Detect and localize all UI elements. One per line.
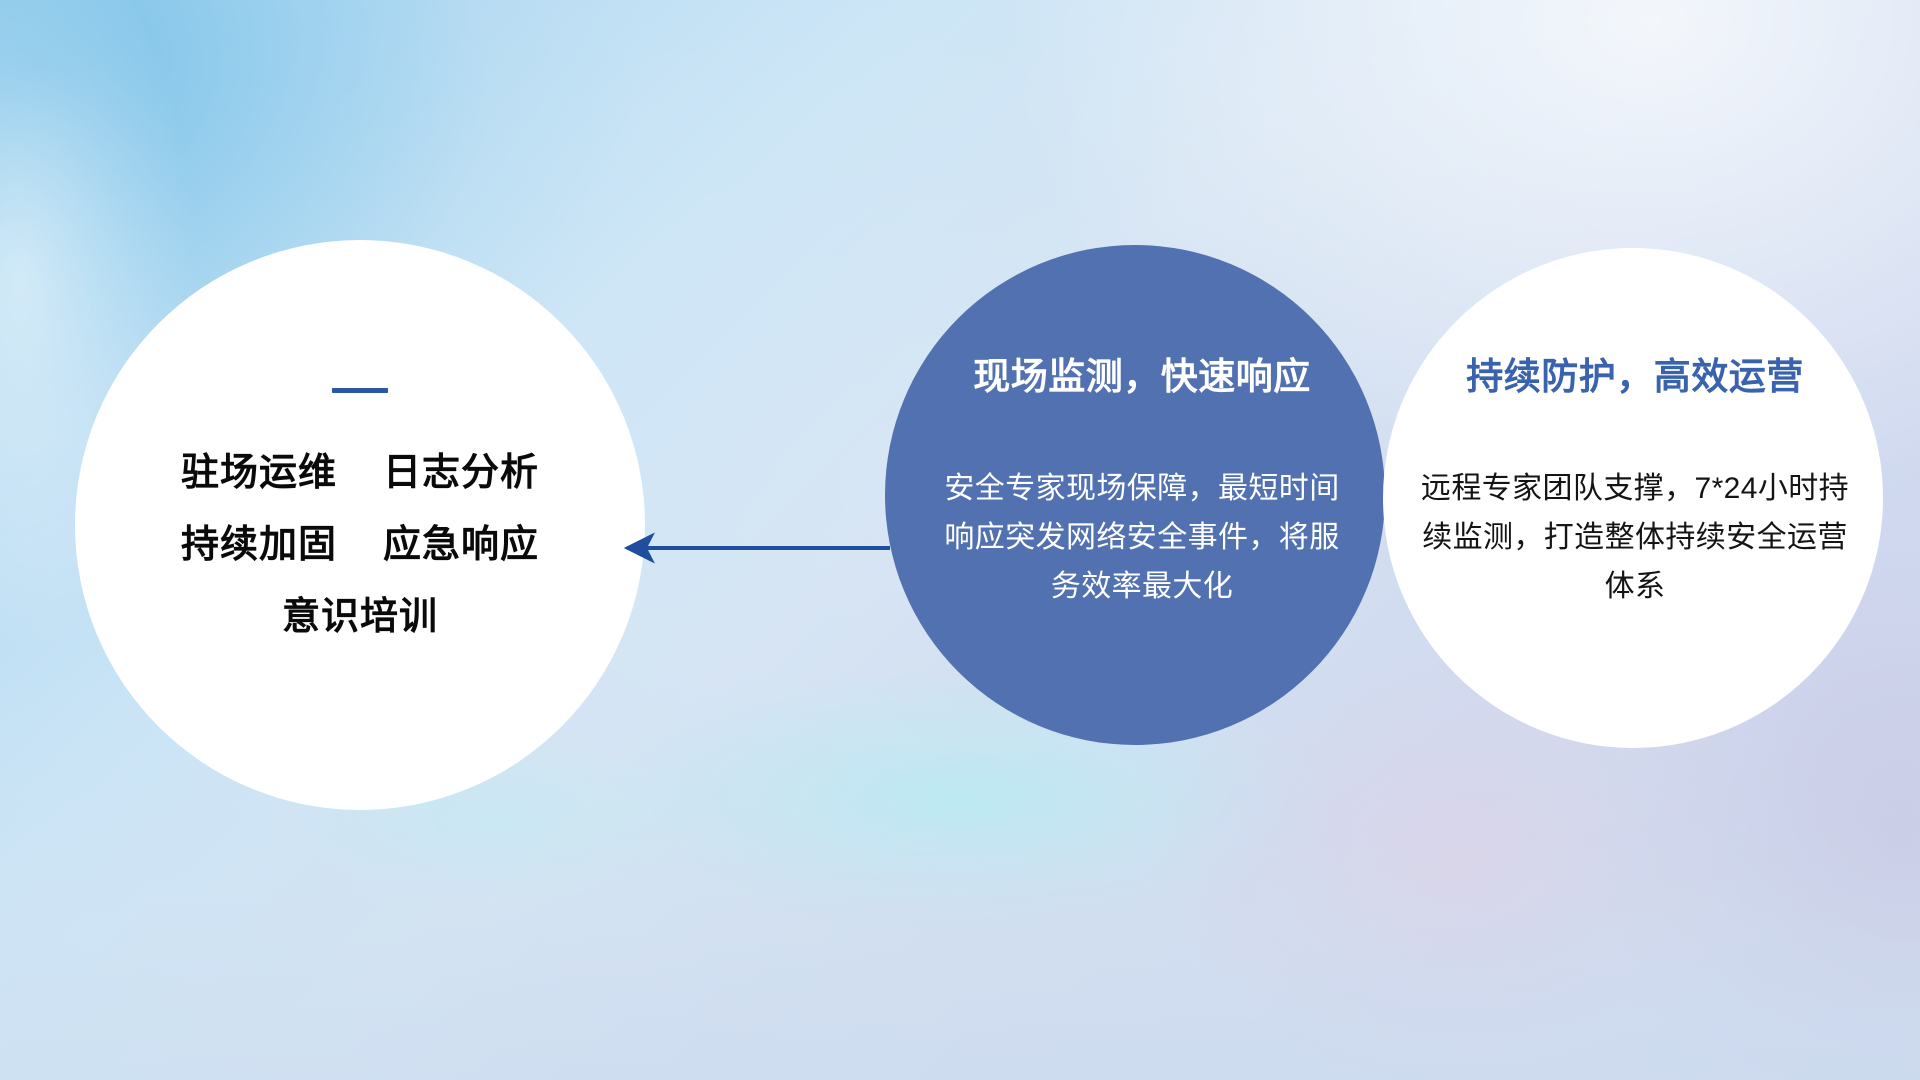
onsite-body-text: 安全专家现场保障，最短时间响应突发网络安全事件，将服务效率最大化 — [913, 465, 1371, 611]
skill-tag[interactable]: 应急响应 — [383, 523, 539, 567]
skills-row: 持续加固 应急响应 — [75, 523, 645, 567]
infographic-slide: 驻场运维 日志分析 持续加固 应急响应 意识培训 现场监测，快速响应 安全专家现… — [0, 0, 1920, 1080]
onsite-monitoring-circle[interactable]: 现场监测，快速响应 安全专家现场保障，最短时间响应突发网络安全事件，将服务效率最… — [885, 245, 1385, 745]
skill-tag[interactable]: 意识培训 — [282, 595, 438, 639]
skill-tag[interactable]: 驻场运维 — [181, 451, 337, 495]
skills-tag-list: 驻场运维 日志分析 持续加固 应急响应 意识培训 — [75, 451, 645, 639]
skills-row: 意识培训 — [75, 595, 645, 639]
continuous-protection-circle[interactable]: 持续防护，高效运营 远程专家团队支撑，7*24小时持续监测，打造整体持续安全运营… — [1383, 248, 1883, 748]
driver-skills-circle[interactable]: 驻场运维 日志分析 持续加固 应急响应 意识培训 — [75, 240, 645, 810]
skill-tag[interactable]: 持续加固 — [181, 523, 337, 567]
remote-body-text: 远程专家团队支撑，7*24小时持续监测，打造整体持续安全运营体系 — [1413, 465, 1857, 611]
skill-tag[interactable]: 日志分析 — [383, 451, 539, 495]
onsite-content: 现场监测，快速响应 安全专家现场保障，最短时间响应突发网络安全事件，将服务效率最… — [913, 355, 1371, 611]
flow-arrow-left — [600, 500, 900, 600]
skills-row: 驻场运维 日志分析 — [75, 451, 645, 495]
skills-content: 驻场运维 日志分析 持续加固 应急响应 意识培训 — [75, 388, 645, 639]
remote-content: 持续防护，高效运营 远程专家团队支撑，7*24小时持续监测，打造整体持续安全运营… — [1413, 355, 1857, 611]
remote-title: 持续防护，高效运营 — [1413, 355, 1857, 399]
onsite-title: 现场监测，快速响应 — [913, 355, 1371, 399]
divider-rule — [332, 388, 388, 393]
